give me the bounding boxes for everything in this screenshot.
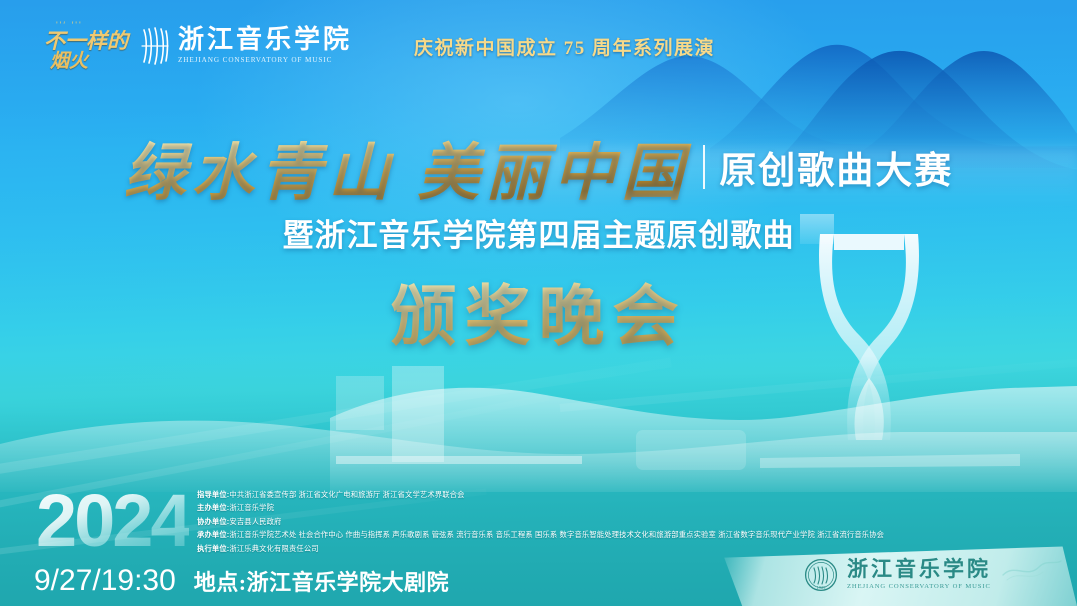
- credits-block: 指导单位:中共浙江省委宣传部 浙江省文化广电和旅游厅 浙江省文学艺术界联合会 主…: [197, 489, 884, 555]
- footer-datetime-venue: 9/27/19:30 地点:浙江音乐学院大剧院: [34, 564, 449, 598]
- conservatory-logo-footer: 1929 浙江音乐学院 ZHEJIANG CONSERVATORY OF MUS…: [804, 558, 991, 592]
- credit-label: 指导单位:: [197, 490, 229, 499]
- title-block: 绿水青山 美丽中国 原创歌曲大赛 暨浙江音乐学院第四届主题原创歌曲 颁奖晚会: [0, 130, 1077, 359]
- conservatory-logo-header: 浙江音乐学院 ZHEJIANG CONSERVATORY OF MUSIC: [140, 26, 352, 66]
- light-streak-1: [0, 357, 672, 480]
- poster-canvas: ''′ ′'' 不一样的 烟火 浙江音乐学院: [0, 0, 1077, 606]
- firework-brand-logo: ''′ ′'' 不一样的 烟火: [44, 15, 122, 77]
- title-divider: [703, 145, 705, 189]
- credit-label: 执行单位:: [197, 544, 229, 553]
- credit-value: 浙江音乐学院艺术处 社会合作中心 作曲与指挥系 声乐歌剧系 管弦系 流行音乐系 …: [229, 530, 884, 539]
- scroll-flourish-icon: [1001, 557, 1063, 588]
- conservatory-logo-text: 浙江音乐学院 ZHEJIANG CONSERVATORY OF MUSIC: [178, 27, 352, 64]
- title-subtitle: 暨浙江音乐学院第四届主题原创歌曲: [0, 210, 1077, 255]
- venue-label: 地点:: [194, 570, 247, 595]
- credit-line: 主办单位:浙江音乐学院: [197, 502, 884, 514]
- title-competition: 原创歌曲大赛: [719, 140, 953, 194]
- year-watermark: 2024: [36, 484, 189, 558]
- event-datetime: 9/27/19:30: [34, 564, 176, 598]
- credit-value: 安吉县人民政府: [229, 517, 281, 526]
- architecture-silhouettes: [0, 352, 1077, 492]
- title-primary-row: 绿水青山 美丽中国 原创歌曲大赛: [0, 130, 1077, 204]
- venue-name: 浙江音乐学院大剧院: [247, 570, 450, 595]
- credit-line: 执行单位:浙江乐典文化有限责任公司: [197, 543, 884, 555]
- credit-label: 协办单位:: [197, 517, 229, 526]
- conservatory-emblem-icon: [140, 26, 170, 66]
- conservatory-name-en: ZHEJIANG CONSERVATORY OF MUSIC: [178, 57, 352, 64]
- light-streak-4: [560, 355, 1077, 412]
- event-venue: 地点:浙江音乐学院大剧院: [194, 565, 449, 597]
- credit-value: 浙江音乐学院: [229, 503, 274, 512]
- credit-line: 指导单位:中共浙江省委宣传部 浙江省文化广电和旅游厅 浙江省文学艺术界联合会: [197, 489, 884, 501]
- anniversary-slogan: 庆祝新中国成立 75 周年系列展演: [414, 33, 715, 60]
- credit-label: 承办单位:: [197, 530, 229, 539]
- title-main-event: 颁奖晚会: [0, 263, 1077, 359]
- credit-line: 承办单位:浙江音乐学院艺术处 社会合作中心 作曲与指挥系 声乐歌剧系 管弦系 流…: [197, 529, 884, 541]
- firework-logo-line1: 不一样的: [44, 32, 122, 52]
- credit-value: 浙江乐典文化有限责任公司: [229, 544, 318, 553]
- firework-logo-line2: 烟火: [50, 52, 122, 71]
- poster-header: ''′ ′'' 不一样的 烟火 浙江音乐学院: [0, 0, 1077, 92]
- title-calligraphy: 绿水青山 美丽中国: [124, 122, 698, 212]
- credit-label: 主办单位:: [197, 503, 229, 512]
- conservatory-name-cn: 浙江音乐学院: [178, 27, 352, 53]
- footer-logo-en: ZHEJIANG CONSERVATORY OF MUSIC: [847, 584, 991, 591]
- credit-value: 中共浙江省委宣传部 浙江省文化广电和旅游厅 浙江省文学艺术界联合会: [229, 490, 464, 499]
- svg-text:1929: 1929: [817, 585, 827, 590]
- conservatory-seal-icon: 1929: [804, 558, 838, 592]
- credit-line: 协办单位:安吉县人民政府: [197, 516, 884, 528]
- footer-logo-cn: 浙江音乐学院: [847, 559, 991, 580]
- footer-logo-text: 浙江音乐学院 ZHEJIANG CONSERVATORY OF MUSIC: [847, 559, 991, 591]
- firework-sparks-icon: ''′ ′'': [56, 21, 122, 30]
